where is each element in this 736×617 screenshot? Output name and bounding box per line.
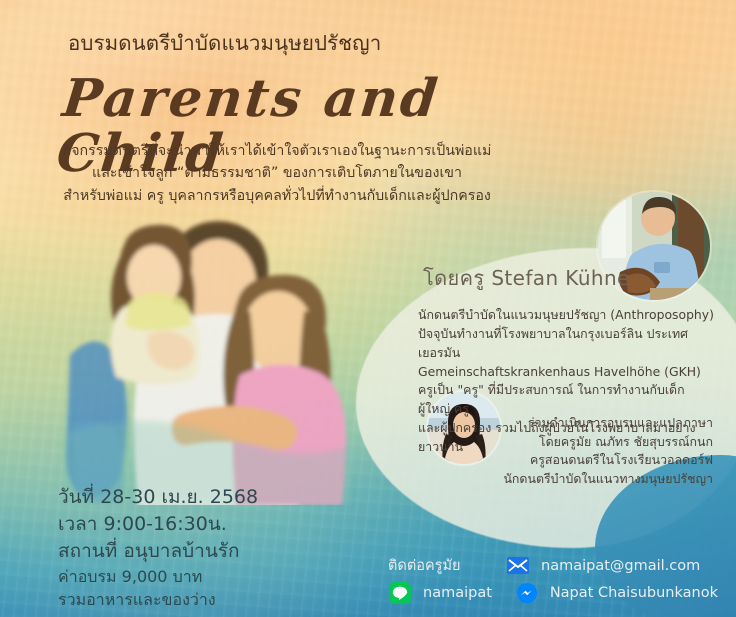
lead-line-1: กิจกรรมดนตรีที่จะนำพาให้เราได้เข้าใจตัวเ… [52,140,502,162]
fee-note: รวมอาหารและของว่าง [58,589,318,612]
translator-line-2: โดยครูมัย ณภัทร ชัยสุบรรณ์กนก [455,433,713,452]
family-watercolor-illustration [62,205,352,505]
fee-amount: ค่าอบรม 9,000 บาท [58,566,318,589]
bio-line-3: Gemeinschaftskrankenhaus Havelhöhe (GKH) [418,363,714,382]
translator-line-3: ครูสอนดนตรีในโรงเรียนวอลดอร์ฟ [455,451,713,470]
event-venue: สถานที่ อนุบาลบ้านรัก [58,538,318,565]
poster-thai-heading: อบรมดนตรีบำบัดแนวมนุษยปรัชญา [68,30,538,58]
line-icon[interactable] [388,581,412,605]
messenger-icon[interactable] [515,581,539,605]
poster-lead-paragraph: กิจกรรมดนตรีที่จะนำพาให้เราได้เข้าใจตัวเ… [52,140,502,207]
event-details: วันที่ 28-30 เม.ย. 2568 เวลา 9:00-16:30น… [58,484,318,565]
contact-label: ติดต่อครูมัย [388,554,506,577]
poster-canvas: อบรมดนตรีบำบัดแนวมนุษยปรัชญา Parents and… [0,0,736,617]
translator-line-4: นักดนตรีบำบัดในแนวทางมนุษยปรัชญา [455,470,713,489]
contact-email-group[interactable]: namaipat@gmail.com [506,554,700,578]
instructor-name-heading: โดยครู Stefan Kühne [423,262,630,294]
contact-row-top: ติดต่อครูมัย namaipat@gmail.com [388,552,718,579]
event-date: วันที่ 28-30 เม.ย. 2568 [58,484,318,511]
lead-line-3: สำหรับพ่อแม่ ครู บุคลากรหรือบุคคลทั่วไปท… [52,185,502,207]
contact-section: ติดต่อครูมัย namaipat@gmail.com [388,552,718,606]
translator-info: ร่วมดำเนินการอบรมและแปลภาษา โดยครูมัย ณภ… [455,414,713,488]
translator-line-1: ร่วมดำเนินการอบรมและแปลภาษา [455,414,713,433]
bio-line-2: ปัจจุบันทำงานที่โรงพยาบาลในกรุงเบอร์ลิน … [418,325,714,363]
contact-messenger-value[interactable]: Napat Chaisubunkanok [550,585,718,601]
contact-row-bottom: namaipat Napat Chaisubunkanok [388,579,718,606]
bio-line-1: นักดนตรีบำบัดในแนวมนุษยปรัชญา (Anthropos… [418,306,714,325]
lead-line-2: และเข้าใจลูก “ตามธรรมชาติ” ของการเติบโตภ… [52,162,502,184]
contact-messenger-group[interactable]: Napat Chaisubunkanok [515,581,718,605]
event-time: เวลา 9:00-16:30น. [58,511,318,538]
event-fee: ค่าอบรม 9,000 บาท รวมอาหารและของว่าง [58,566,318,611]
contact-email-value[interactable]: namaipat@gmail.com [541,558,700,574]
contact-line-group[interactable]: namaipat [388,581,515,605]
email-icon[interactable] [506,554,530,578]
contact-line-value[interactable]: namaipat [423,585,492,601]
